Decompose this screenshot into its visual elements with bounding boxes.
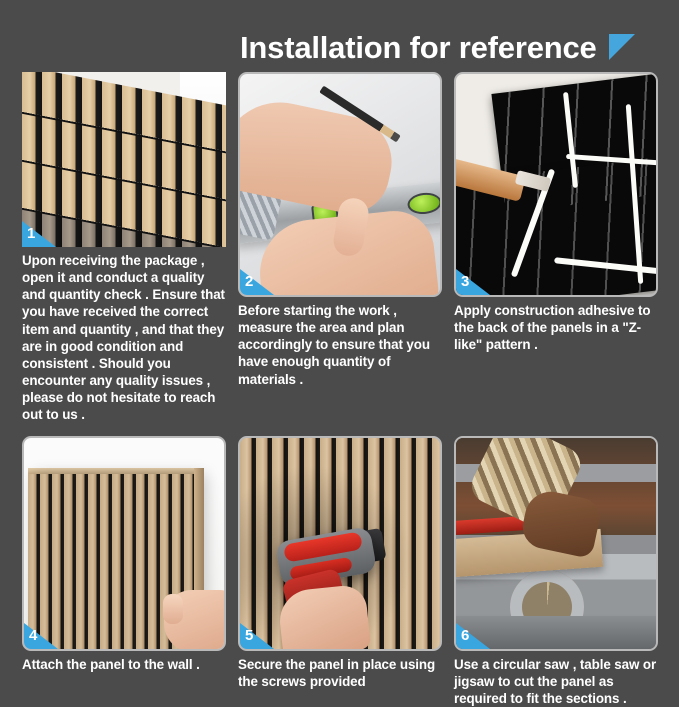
right-triangle-icon — [609, 34, 635, 60]
header: Installation for reference — [240, 24, 660, 70]
step-badge-4: 4 — [24, 623, 58, 649]
installation-guide-infographic: Installation for reference 1 — [0, 0, 679, 679]
step-caption-4: Attach the panel to the wall . — [22, 651, 226, 673]
step-caption-3: Apply construction adhesive to the back … — [454, 297, 658, 353]
step-image-3: 3 — [454, 72, 658, 297]
step-image-4: 4 — [22, 436, 226, 651]
step-image-5: 5 — [238, 436, 442, 651]
step-image-2: 2 — [238, 72, 442, 297]
step-card-5: 5 Secure the panel in place using the sc… — [238, 436, 442, 707]
step-badge-2: 2 — [240, 269, 274, 295]
steps-row-top: 1 Upon receiving the package , open it a… — [22, 72, 658, 424]
step-caption-2: Before starting the work , measure the a… — [238, 297, 442, 388]
steps-grid: 1 Upon receiving the package , open it a… — [22, 72, 658, 707]
step-card-2: 2 Before starting the work , measure the… — [238, 72, 442, 424]
step-badge-3: 3 — [456, 269, 490, 295]
step-image-6: 6 — [454, 436, 658, 651]
step-badge-1: 1 — [22, 221, 56, 247]
step-card-6: 6 Use a circular saw , table saw or jigs… — [454, 436, 658, 707]
step-image-1: 1 — [22, 72, 226, 247]
step-badge-6: 6 — [456, 623, 490, 649]
steps-row-bottom: 4 Attach the panel to the wall . 5 Secur… — [22, 436, 658, 707]
step-card-3: 3 Apply construction adhesive to the bac… — [454, 72, 658, 424]
step-caption-5: Secure the panel in place using the scre… — [238, 651, 442, 690]
finger — [163, 594, 183, 624]
step-badge-5: 5 — [240, 623, 274, 649]
step-card-4: 4 Attach the panel to the wall . — [22, 436, 226, 707]
step-card-1: 1 Upon receiving the package , open it a… — [22, 72, 226, 424]
step-caption-1: Upon receiving the package , open it and… — [22, 247, 226, 424]
level-vial — [407, 191, 442, 215]
page-title: Installation for reference — [240, 32, 597, 63]
